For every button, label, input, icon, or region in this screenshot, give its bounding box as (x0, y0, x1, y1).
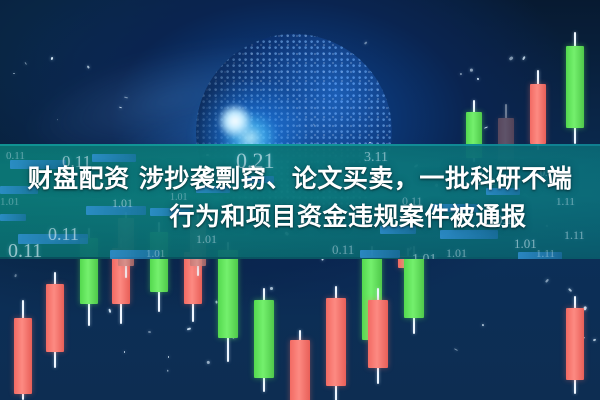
candlestick (218, 242, 238, 362)
candle-body (404, 256, 424, 318)
candlestick (326, 286, 346, 400)
candle-body (290, 340, 310, 400)
candle-body (368, 300, 388, 368)
data-number: 0.11 (332, 242, 354, 258)
data-number: 1.01 (514, 236, 537, 252)
data-number: 1.01 (446, 246, 467, 259)
candle-body (218, 250, 238, 338)
candlestick (46, 272, 64, 368)
candle-body (566, 308, 584, 380)
data-bar (360, 250, 400, 258)
candlestick (14, 300, 32, 400)
candlestick (368, 288, 388, 384)
band-top-edge (0, 144, 600, 146)
data-number: 1.11 (536, 248, 555, 259)
candle-body (14, 318, 32, 394)
candlestick (290, 330, 310, 400)
headline-line-2: 行为和项目资金违规案件被通报 (12, 198, 588, 236)
data-number: 1.01 (146, 248, 165, 259)
data-number: 1.01 (412, 252, 437, 259)
news-cover-image: 0.110.111.011.010.111.010.111.010.110.21… (0, 0, 600, 400)
data-number: 0.11 (8, 240, 42, 259)
candle-body (254, 300, 274, 378)
band-bottom-edge (0, 257, 600, 259)
candle-body (46, 284, 64, 352)
candlestick (404, 246, 424, 334)
candlestick (566, 296, 584, 394)
headline: 财盘配资 涉抄袭剽窃、论文买卖，一批科研不端 行为和项目资金违规案件被通报 (0, 160, 600, 236)
candle-body (326, 298, 346, 386)
headline-line-1: 财盘配资 涉抄袭剽窃、论文买卖，一批科研不端 (12, 160, 588, 198)
candlestick (254, 288, 274, 392)
